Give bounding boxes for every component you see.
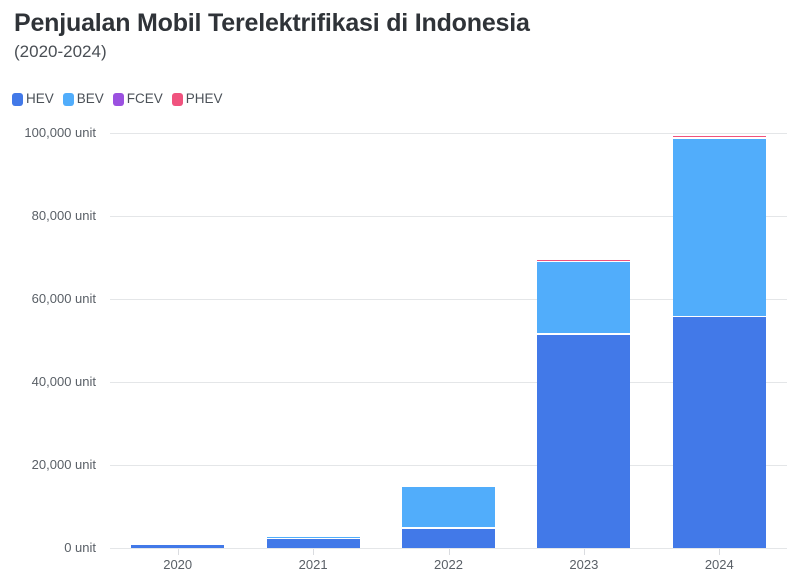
x-axis-tick-mark: [178, 549, 179, 555]
x-axis-tick-mark: [719, 549, 720, 555]
x-axis-tick-label-2021: 2021: [273, 557, 353, 572]
x-axis-tick-mark: [449, 549, 450, 555]
plot-area: 0 unit20,000 unit40,000 unit60,000 unit8…: [0, 0, 795, 585]
chart-container: Penjualan Mobil Terelektrifikasi di Indo…: [0, 0, 795, 585]
x-axis-tick-mark: [313, 549, 314, 555]
x-axis-tick-label-2022: 2022: [409, 557, 489, 572]
x-axis-tick-mark: [584, 549, 585, 555]
x-axis-tick-label-2024: 2024: [679, 557, 759, 572]
x-axis-tick-label-2020: 2020: [138, 557, 218, 572]
x-axis: 20202021202220232024: [0, 0, 795, 585]
x-axis-tick-label-2023: 2023: [544, 557, 624, 572]
